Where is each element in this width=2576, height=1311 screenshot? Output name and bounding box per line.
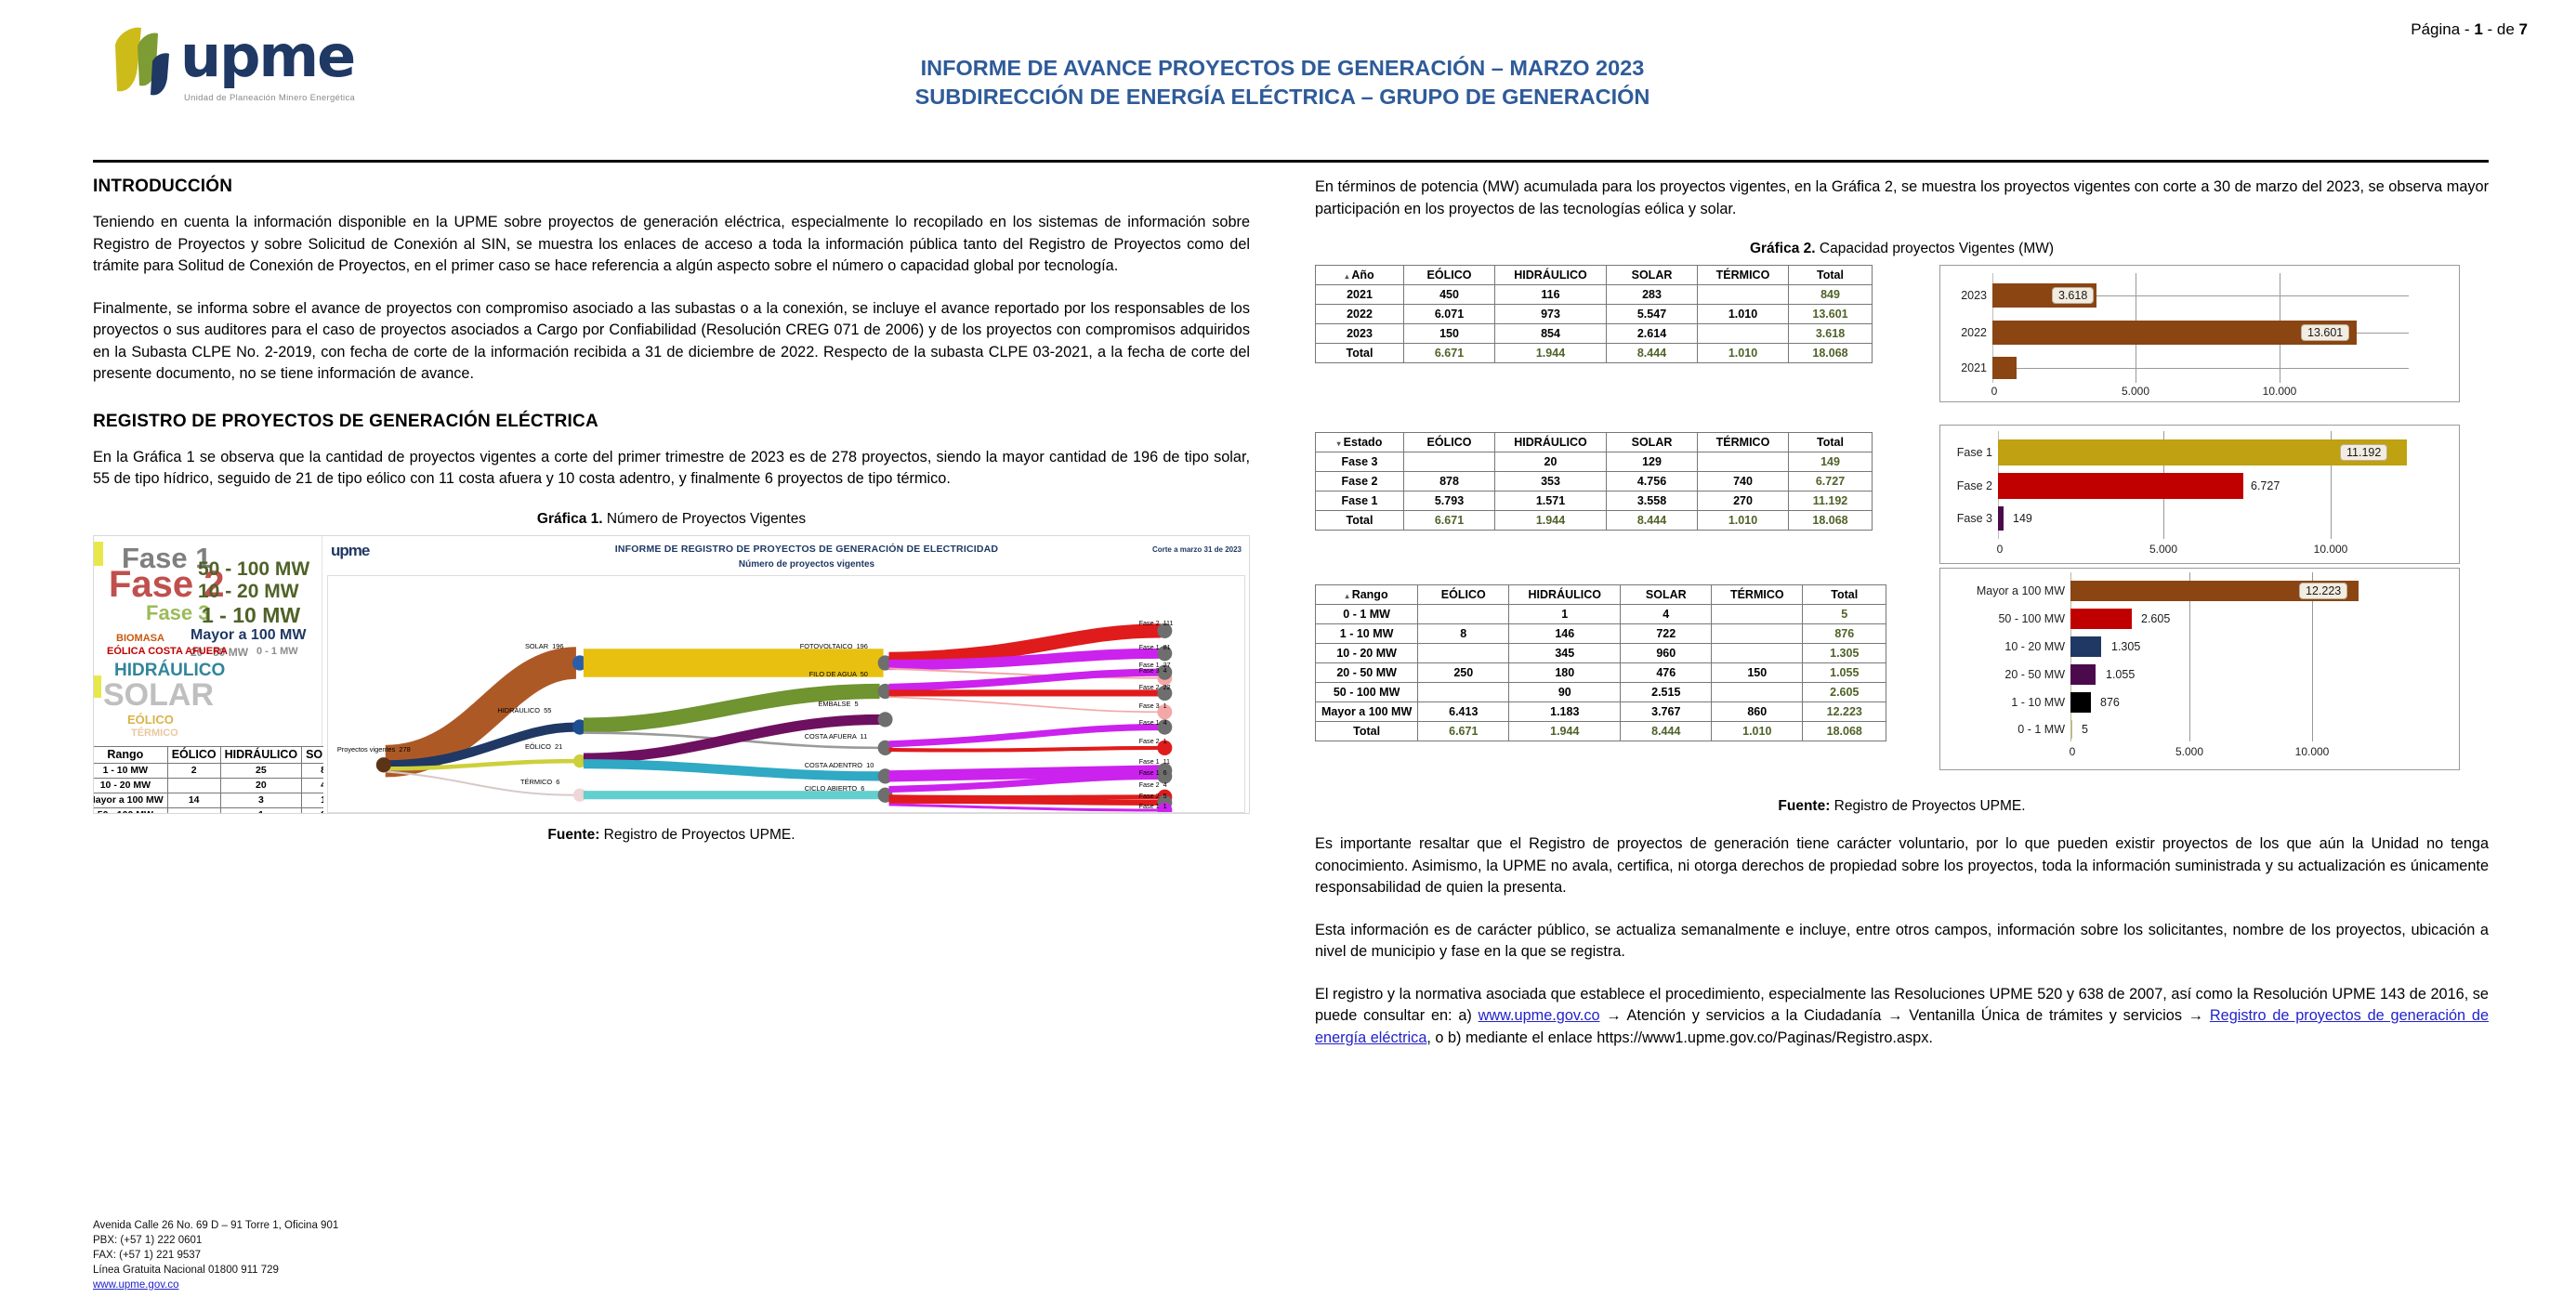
- table-row: Fase 320129149: [1316, 452, 1873, 472]
- figure-1-caption: Gráfica 1. Número de Proyectos Vigentes: [93, 511, 1250, 528]
- th-eolico: EÓLICO: [1404, 266, 1495, 285]
- page-number-middle: - de: [2483, 20, 2519, 38]
- cell-value: 3: [220, 793, 301, 807]
- cell-value: [167, 807, 220, 814]
- report-title: INFORME DE AVANCE PROYECTOS DE GENERACIÓ…: [818, 54, 1747, 111]
- wordcloud-item: EÓLICA COSTA AFUERA: [107, 646, 228, 657]
- figure-2-block-rango: ▴Rango EÓLICO HIDRÁULICO SOLAR TÉRMICO T…: [1315, 584, 2489, 770]
- table-row: 10 - 20 MW3459601.305: [1316, 644, 1886, 663]
- section-heading-introduccion: INTRODUCCIÓN: [93, 177, 1250, 197]
- bar-label: 2023: [1940, 289, 1987, 302]
- bar-label: Fase 1: [1940, 446, 1992, 459]
- cell-value: 2: [167, 763, 220, 778]
- table-row: Mayor a 100 MW6.4131.1833.76786012.223: [1316, 702, 1886, 722]
- wordcloud-item: 1 - 10 MW: [202, 603, 300, 628]
- cell-label: 50 - 100 MW: [93, 807, 167, 814]
- th-rango: Rango: [93, 746, 167, 763]
- cell-total: 1.010: [1712, 722, 1803, 741]
- wordcloud-item: BIOMASA: [116, 633, 164, 644]
- cell-value: 6.071: [1404, 305, 1495, 324]
- cell-total: 1.010: [1698, 344, 1789, 363]
- cell-total: 11.192: [1789, 492, 1873, 511]
- cell-value: 150: [1712, 663, 1803, 683]
- table-row: Fase 28783534.7567406.727: [1316, 472, 1873, 492]
- wordcloud-item: Fase 3: [146, 601, 210, 625]
- sankey-title: INFORME DE REGISTRO DE PROYECTOS DE GENE…: [435, 544, 1178, 555]
- wordcloud-item: 50 - 100 MW: [198, 558, 309, 581]
- cell-label: 2023: [1316, 324, 1404, 344]
- chart-capacidad-por-rango-mw: Mayor a 100 MW 12.223 50 - 100 MW 2.605 …: [1939, 568, 2460, 770]
- cell-value: [1418, 605, 1509, 624]
- cell-value: 860: [1712, 702, 1803, 722]
- table-row: 1 - 10 MW8146722876: [1316, 624, 1886, 644]
- wordcloud-item: Mayor a 100 MW: [191, 627, 306, 644]
- cell-label: Total: [1316, 344, 1404, 363]
- cell-value: 180: [1509, 663, 1621, 683]
- upme-logo: upme Unidad de Planeación Minero Energét…: [110, 20, 407, 110]
- wordcloud-item: 10 - 20 MW: [198, 581, 299, 603]
- cell-value: 5.547: [1607, 305, 1698, 324]
- cell-value: 5.793: [1404, 492, 1495, 511]
- axis-tick: 5.000: [2175, 745, 2203, 758]
- cell-value: 250: [1418, 663, 1509, 683]
- cell-value: 722: [1621, 624, 1712, 644]
- intro-paragraph-2: Finalmente, se informa sobre el avance d…: [93, 298, 1250, 386]
- th-hidraulico: HIDRÁULICO: [1495, 266, 1607, 285]
- bar-value: 5: [2082, 723, 2088, 736]
- cell-total: 6.727: [1789, 472, 1873, 492]
- cell-total: 18.068: [1789, 344, 1873, 363]
- link-upme-gov-co[interactable]: www.upme.gov.co: [1479, 1007, 1600, 1024]
- cell-label: Mayor a 100 MW: [93, 793, 167, 807]
- th-termico: TÉRMICO: [1712, 585, 1803, 605]
- figure-2-source: Fuente: Registro de Proyectos UPME.: [1315, 798, 2489, 815]
- cell-label: 2021: [1316, 285, 1404, 305]
- sankey-diagram: Proyectos vigentes 278 SOLAR 196 HIDRÁUL…: [327, 575, 1245, 813]
- tabla-capacidad-por-estado: ▾Estado EÓLICO HIDRÁULICO SOLAR TÉRMICO …: [1315, 432, 1873, 531]
- table-row: Fase 15.7931.5713.55827011.192: [1316, 492, 1873, 511]
- table-total-row: Total6.6711.9448.4441.01018.068: [1316, 722, 1886, 741]
- bar-fill: [1998, 473, 2243, 499]
- page-number-current: 1: [2474, 20, 2482, 38]
- page-number-prefix: Página -: [2411, 20, 2474, 38]
- cell-total: 149: [1789, 452, 1873, 472]
- bar-value: 13.601: [2301, 324, 2349, 341]
- cell-label: 10 - 20 MW: [1316, 644, 1418, 663]
- cell-value: 973: [1495, 305, 1607, 324]
- registro-paragraph-1: En la Gráfica 1 se observa que la cantid…: [93, 447, 1250, 491]
- table-header-row: ▾Estado EÓLICO HIDRÁULICO SOLAR TÉRMICO …: [1316, 433, 1873, 452]
- th-rango[interactable]: ▴Rango: [1316, 585, 1418, 605]
- wordcloud-item: EÓLICO: [127, 713, 174, 727]
- bar-row: 1 - 10 MW 876: [1940, 689, 2459, 715]
- cell-value: 150: [1404, 324, 1495, 344]
- figure-2-block-estado: ▾Estado EÓLICO HIDRÁULICO SOLAR TÉRMICO …: [1315, 425, 2489, 564]
- tabla-capacidad-por-anio: ▴Año EÓLICO HIDRÁULICO SOLAR TÉRMICO Tot…: [1315, 265, 1873, 363]
- cell-label: 2022: [1316, 305, 1404, 324]
- th-total: Total: [1789, 433, 1873, 452]
- th-hidraulico: HIDRÁULICO: [1495, 433, 1607, 452]
- cell-value: [1698, 324, 1789, 344]
- right-column: En términos de potencia (MW) acumulada p…: [1315, 177, 2489, 1069]
- cell-value: 2.515: [1621, 683, 1712, 702]
- figure-1-source-label: Fuente:: [547, 827, 599, 843]
- th-termico: TÉRMICO: [1698, 266, 1789, 285]
- right-paragraph-2: Esta información es de carácter público,…: [1315, 920, 2489, 964]
- cell-value: 6.413: [1418, 702, 1509, 722]
- cell-label: 10 - 20 MW: [93, 778, 167, 793]
- th-eolico: EÓLICO: [1404, 433, 1495, 452]
- cell-total: 8.444: [1607, 344, 1698, 363]
- cell-label: Total: [1316, 722, 1418, 741]
- cell-value: [167, 778, 220, 793]
- cell-value: 116: [1495, 285, 1607, 305]
- table-row: 2021450116283849: [1316, 285, 1873, 305]
- cell-value: 4.756: [1607, 472, 1698, 492]
- th-eolico: EÓLICO: [167, 746, 220, 763]
- bar-value: 11.192: [2340, 444, 2387, 461]
- cell-value: 2.614: [1607, 324, 1698, 344]
- bar-fill: [2070, 664, 2096, 685]
- bar-fill: [2070, 609, 2132, 629]
- cell-total: 8.444: [1607, 511, 1698, 531]
- cell-label: Total: [1316, 511, 1404, 531]
- sankey-cutoff-date: Corte a marzo 31 de 2023: [1152, 545, 1242, 554]
- cell-value: [1712, 605, 1803, 624]
- cell-total: 1.010: [1698, 511, 1789, 531]
- bar-fill: [1998, 506, 2004, 531]
- cell-value: 353: [1495, 472, 1607, 492]
- upme-logo-mark: [110, 24, 175, 98]
- word-cloud-panel: Fase 1 Fase 2 Fase 3 50 - 100 MW 10 - 20…: [94, 536, 322, 814]
- right-paragraph-3: El registro y la normativa asociada que …: [1315, 984, 2489, 1050]
- cell-value: [1712, 644, 1803, 663]
- cell-value: 1: [1509, 605, 1621, 624]
- footer-fax: FAX: (+57 1) 221 9537: [93, 1248, 338, 1263]
- upme-logo-tagline: Unidad de Planeación Minero Energética: [184, 93, 355, 103]
- cell-value: 8: [1418, 624, 1509, 644]
- footer-pbx: PBX: (+57 1) 222 0601: [93, 1233, 338, 1248]
- cell-value: 854: [1495, 324, 1607, 344]
- cell-total: 3.618: [1789, 324, 1873, 344]
- report-title-line1: INFORME DE AVANCE PROYECTOS DE GENERACIÓ…: [818, 54, 1747, 83]
- cell-total: 876: [1803, 624, 1886, 644]
- cell-label: Fase 3: [1316, 452, 1404, 472]
- cell-total: 1.055: [1803, 663, 1886, 683]
- bar-value: 1.055: [2106, 668, 2135, 681]
- th-solar: SOLAR: [1607, 433, 1698, 452]
- th-eolico: EÓLICO: [1418, 585, 1509, 605]
- cell-value: 25: [220, 763, 301, 778]
- tabla-capacidad-por-rango-mw: ▴Rango EÓLICO HIDRÁULICO SOLAR TÉRMICO T…: [1315, 584, 1886, 741]
- figure-1-caption-text: Número de Proyectos Vigentes: [603, 511, 807, 527]
- cell-total: 13.601: [1789, 305, 1873, 324]
- cell-value: 1.183: [1509, 702, 1621, 722]
- section-heading-registro: REGISTRO DE PROYECTOS DE GENERACIÓN ELÉC…: [93, 412, 1250, 432]
- cell-value: 1.010: [1698, 305, 1789, 324]
- bar-row: 2023 3.618: [1940, 279, 2459, 312]
- cell-value: [1712, 683, 1803, 702]
- th-estado[interactable]: ▾Estado: [1316, 433, 1404, 452]
- cell-value: [1712, 624, 1803, 644]
- table-header-row: ▴Año EÓLICO HIDRÁULICO SOLAR TÉRMICO Tot…: [1316, 266, 1873, 285]
- figure-1-caption-label: Gráfica 1.: [537, 511, 603, 527]
- bar-label: 1 - 10 MW: [1940, 696, 2065, 709]
- figure-2-caption: Gráfica 2. Capacidad proyectos Vigentes …: [1315, 241, 2489, 257]
- bar-label: 50 - 100 MW: [1940, 612, 2065, 625]
- cell-value: [1698, 285, 1789, 305]
- bar-value: 149: [2013, 512, 2032, 525]
- cell-label: Fase 1: [1316, 492, 1404, 511]
- page-number-total: 7: [2519, 20, 2528, 38]
- cell-value: 4: [1621, 605, 1712, 624]
- table-header-row: ▴Rango EÓLICO HIDRÁULICO SOLAR TÉRMICO T…: [1316, 585, 1886, 605]
- th-hidraulico: HIDRÁULICO: [1509, 585, 1621, 605]
- axis-tick: 0: [2070, 745, 2076, 758]
- figure-2-source-label: Fuente:: [1778, 798, 1830, 814]
- cell-value: 20: [220, 778, 301, 793]
- cell-label: Fase 2: [1316, 472, 1404, 492]
- bar-label: 0 - 1 MW: [1940, 723, 2065, 736]
- bar-row: Fase 3 149: [1940, 504, 2459, 533]
- bar-fill: [1992, 357, 2017, 379]
- figure-1-source-text: Registro de Proyectos UPME.: [599, 827, 795, 843]
- footer-address: Avenida Calle 26 No. 69 D – 91 Torre 1, …: [93, 1218, 338, 1233]
- axis-tick: 10.000: [2263, 385, 2297, 398]
- cell-label: 1 - 10 MW: [93, 763, 167, 778]
- bar-row: 2021: [1940, 353, 2459, 383]
- wordcloud-item: 0 - 1 MW: [256, 646, 298, 657]
- bar-value: 12.223: [2299, 583, 2347, 599]
- chart-capacidad-por-fase: Fase 1 11.192 Fase 2 6.727 Fase 3 149 0 …: [1939, 425, 2460, 564]
- cell-total: 1.305: [1803, 644, 1886, 663]
- cell-value: 283: [1607, 285, 1698, 305]
- cell-value: 476: [1621, 663, 1712, 683]
- cell-value: 3.558: [1607, 492, 1698, 511]
- sankey-node-proyectos-vigentes: [376, 757, 391, 772]
- cell-total: 1.944: [1495, 511, 1607, 531]
- figure-2-caption-text: Capacidad proyectos Vigentes (MW): [1816, 241, 2054, 256]
- th-total: Total: [1789, 266, 1873, 285]
- cell-value: [1418, 683, 1509, 702]
- th-termico: TÉRMICO: [1698, 433, 1789, 452]
- th-solar: SOLAR: [1607, 266, 1698, 285]
- chart-capacidad-por-anio: 2023 3.618 2022 13.601 2021 0 5.000 10.0…: [1939, 265, 2460, 402]
- wordcloud-item: TÉRMICO: [131, 728, 178, 739]
- cell-value: [1418, 644, 1509, 663]
- cell-value: 129: [1607, 452, 1698, 472]
- th-total: Total: [1803, 585, 1886, 605]
- right-paragraph-3-part-c: , o b) mediante el enlace https://www1.u…: [1426, 1029, 1933, 1046]
- cell-label: 50 - 100 MW: [1316, 683, 1418, 702]
- cell-total: 18.068: [1803, 722, 1886, 741]
- cell-total: 1.944: [1495, 344, 1607, 363]
- figure-2-source-text: Registro de Proyectos UPME.: [1830, 798, 2025, 814]
- cell-label: Mayor a 100 MW: [1316, 702, 1418, 722]
- cell-value: 1.571: [1495, 492, 1607, 511]
- th-solar: SOLAR: [1621, 585, 1712, 605]
- bar-row: 2022 13.601: [1940, 316, 2459, 349]
- cell-value: [1404, 452, 1495, 472]
- figure-2-block-anio: ▴Año EÓLICO HIDRÁULICO SOLAR TÉRMICO Tot…: [1315, 265, 2489, 402]
- cell-total: 6.671: [1404, 511, 1495, 531]
- bar-fill: [2070, 720, 2072, 739]
- bar-label: 20 - 50 MW: [1940, 668, 2065, 681]
- upme-logo-text: upme: [180, 28, 354, 85]
- table-row: 20231508542.6143.618: [1316, 324, 1873, 344]
- right-paragraph-1: Es importante resaltar que el Registro d…: [1315, 833, 2489, 899]
- sankey-panel: upme INFORME DE REGISTRO DE PROYECTOS DE…: [323, 536, 1249, 814]
- cell-value: 90: [1509, 683, 1621, 702]
- axis-tick: 5.000: [2149, 543, 2177, 556]
- cell-value: 345: [1509, 644, 1621, 663]
- bar-row: 20 - 50 MW 1.055: [1940, 662, 2459, 688]
- sankey-subtitle: Número de proyectos vigentes: [435, 559, 1178, 570]
- cell-value: 3.767: [1621, 702, 1712, 722]
- cell-value: 270: [1698, 492, 1789, 511]
- cell-value: 450: [1404, 285, 1495, 305]
- bar-value: 6.727: [2251, 479, 2280, 492]
- bar-value: 1.305: [2111, 640, 2140, 653]
- cell-total: 18.068: [1789, 511, 1873, 531]
- cell-total: 1.944: [1509, 722, 1621, 741]
- bar-row: 0 - 1 MW 5: [1940, 717, 2459, 741]
- cell-value: 1: [220, 807, 301, 814]
- cell-total: 6.671: [1418, 722, 1509, 741]
- report-title-line2: SUBDIRECCIÓN DE ENERGÍA ELÉCTRICA – GRUP…: [818, 83, 1747, 111]
- cell-total: 6.671: [1404, 344, 1495, 363]
- table-row: 0 - 1 MW145: [1316, 605, 1886, 624]
- axis-tick: 10.000: [2295, 745, 2330, 758]
- cell-value: 14: [167, 793, 220, 807]
- bar-label: 10 - 20 MW: [1940, 640, 2065, 653]
- table-total-row: Total6.6711.9448.4441.01018.068: [1316, 344, 1873, 363]
- table-row: 20226.0719735.5471.01013.601: [1316, 305, 1873, 324]
- bar-row: 10 - 20 MW 1.305: [1940, 634, 2459, 660]
- cell-label: 20 - 50 MW: [1316, 663, 1418, 683]
- bar-label: 2021: [1940, 361, 1987, 374]
- figure-1-graphic: Fase 1 Fase 2 Fase 3 50 - 100 MW 10 - 20…: [93, 535, 1250, 814]
- right-intro-paragraph: En términos de potencia (MW) acumulada p…: [1315, 177, 2489, 220]
- footer-linea-gratuita: Línea Gratuita Nacional 01800 911 729: [93, 1263, 338, 1278]
- axis-tick: 0: [1991, 385, 1998, 398]
- axis-tick: 0: [1997, 543, 2004, 556]
- cell-total: 8.444: [1621, 722, 1712, 741]
- table-total-row: Total6.6711.9448.4441.01018.068: [1316, 511, 1873, 531]
- left-column: INTRODUCCIÓN Teniendo en cuenta la infor…: [93, 177, 1250, 862]
- figure-2-caption-label: Gráfica 2.: [1750, 241, 1816, 256]
- footer: Avenida Calle 26 No. 69 D – 91 Torre 1, …: [93, 1218, 338, 1292]
- cell-total: 2.605: [1803, 683, 1886, 702]
- table-row: 20 - 50 MW2501804761501.055: [1316, 663, 1886, 683]
- table-row: 50 - 100 MW902.5152.605: [1316, 683, 1886, 702]
- bar-value: 3.618: [2052, 287, 2094, 304]
- bar-row: Mayor a 100 MW 12.223: [1940, 578, 2459, 604]
- cell-label: 1 - 10 MW: [1316, 624, 1418, 644]
- cell-value: 146: [1509, 624, 1621, 644]
- bar-fill: [2070, 636, 2101, 657]
- bar-value: 876: [2100, 696, 2120, 709]
- cell-label: 0 - 1 MW: [1316, 605, 1418, 624]
- bar-label: Fase 3: [1940, 512, 1992, 525]
- sankey-upme-logo: upme: [331, 542, 369, 560]
- bar-fill: [2070, 692, 2091, 713]
- bar-row: Fase 2 6.727: [1940, 470, 2459, 502]
- bar-row: Fase 1 11.192: [1940, 437, 2459, 468]
- cell-value: 960: [1621, 644, 1712, 663]
- bar-value: 2.605: [2141, 612, 2170, 625]
- th-hidraulico: HIDRÁULICO: [220, 746, 301, 763]
- figure-1-source: Fuente: Registro de Proyectos UPME.: [93, 827, 1250, 844]
- intro-paragraph-1: Teniendo en cuenta la información dispon…: [93, 212, 1250, 278]
- bar-label: 2022: [1940, 326, 1987, 339]
- page-number: Página - 1 - de 7: [2411, 20, 2528, 39]
- axis-tick: 5.000: [2122, 385, 2149, 398]
- th-anio[interactable]: ▴Año: [1316, 266, 1404, 285]
- footer-website-link[interactable]: www.upme.gov.co: [93, 1279, 178, 1291]
- header-divider: [93, 160, 2489, 163]
- bar-label: Fase 2: [1940, 479, 1992, 492]
- bar-row: 50 - 100 MW 2.605: [1940, 606, 2459, 632]
- cell-value: 878: [1404, 472, 1495, 492]
- cell-total: 5: [1803, 605, 1886, 624]
- axis-tick: 10.000: [2314, 543, 2348, 556]
- bar-label: Mayor a 100 MW: [1940, 584, 2065, 597]
- cell-value: 20: [1495, 452, 1607, 472]
- cell-total: 849: [1789, 285, 1873, 305]
- cell-total: 12.223: [1803, 702, 1886, 722]
- cell-value: [1698, 452, 1789, 472]
- wordcloud-item: SOLAR: [103, 677, 214, 714]
- right-paragraph-3-part-b: → Atención y servicios a la Ciudadanía →…: [1600, 1007, 2210, 1024]
- cell-value: 740: [1698, 472, 1789, 492]
